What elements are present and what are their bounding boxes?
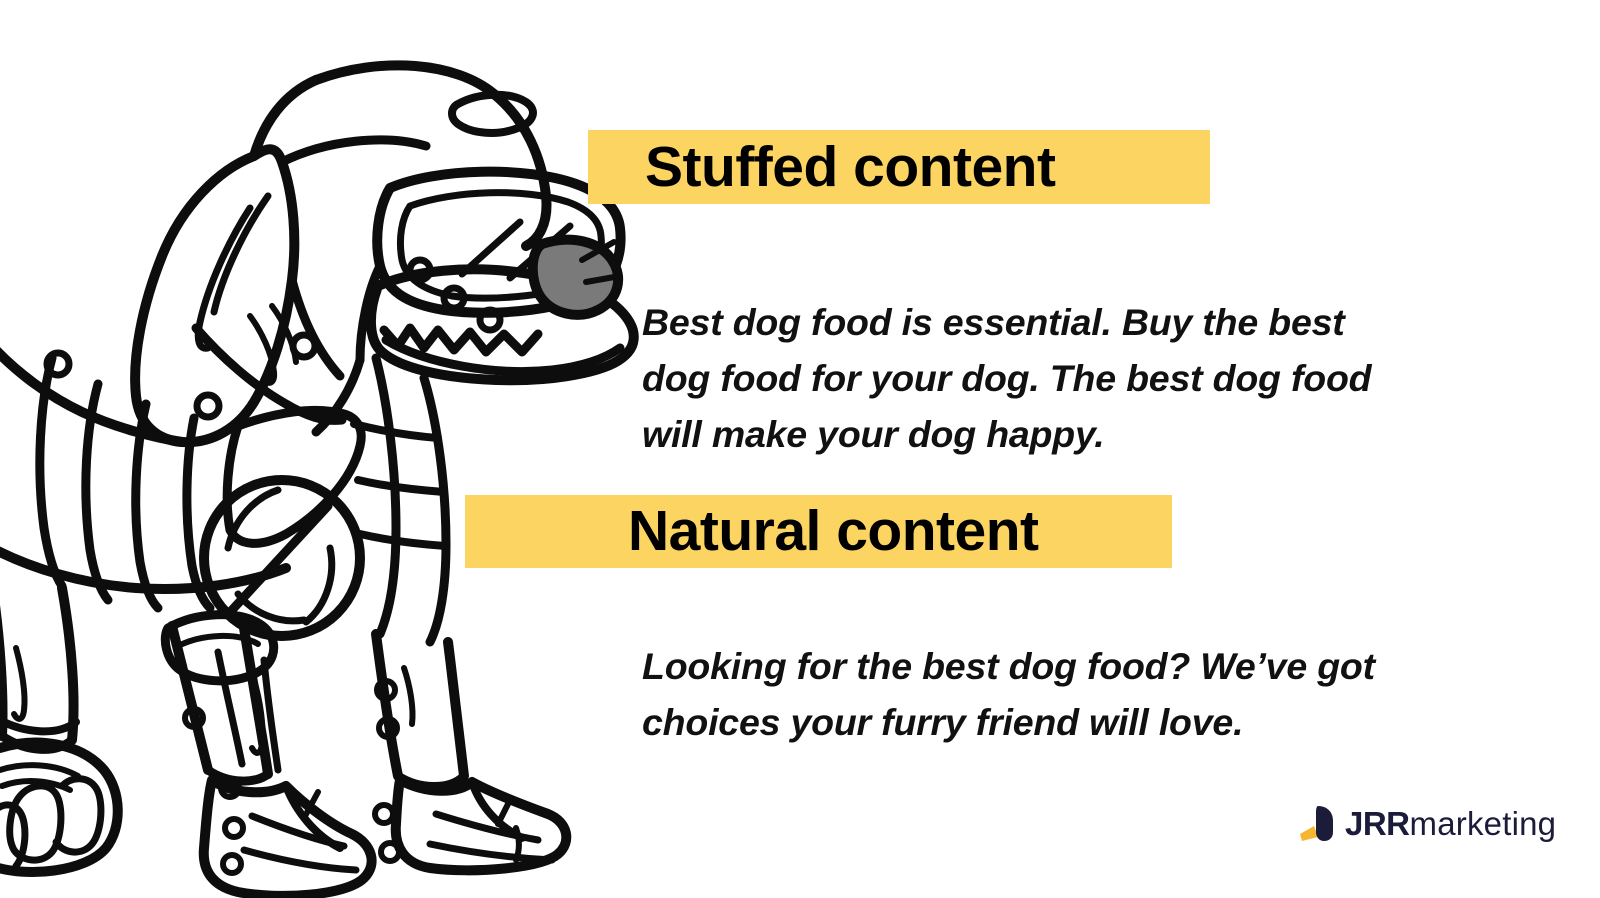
natural-content-heading-band: Natural content xyxy=(465,495,1172,568)
poster-canvas: Stuffed content Best dog food is essenti… xyxy=(0,0,1600,898)
jrr-leaf-mark-icon xyxy=(1300,804,1336,842)
stuffed-content-heading: Stuffed content xyxy=(645,139,1055,196)
natural-content-body: Looking for the best dog food? We’ve got… xyxy=(642,638,1422,750)
stuffed-content-heading-band: Stuffed content xyxy=(588,130,1210,204)
jrr-marketing-logo: JRRmarketing xyxy=(1300,800,1556,846)
stuffed-content-body: Best dog food is essential. Buy the best… xyxy=(642,294,1402,462)
content-column: Stuffed content Best dog food is essenti… xyxy=(0,0,1600,898)
logo-wordmark: JRRmarketing xyxy=(1345,807,1556,840)
natural-content-heading: Natural content xyxy=(628,503,1039,560)
logo-brand-text: JRR xyxy=(1345,807,1410,840)
logo-suffix-text: marketing xyxy=(1410,807,1557,840)
